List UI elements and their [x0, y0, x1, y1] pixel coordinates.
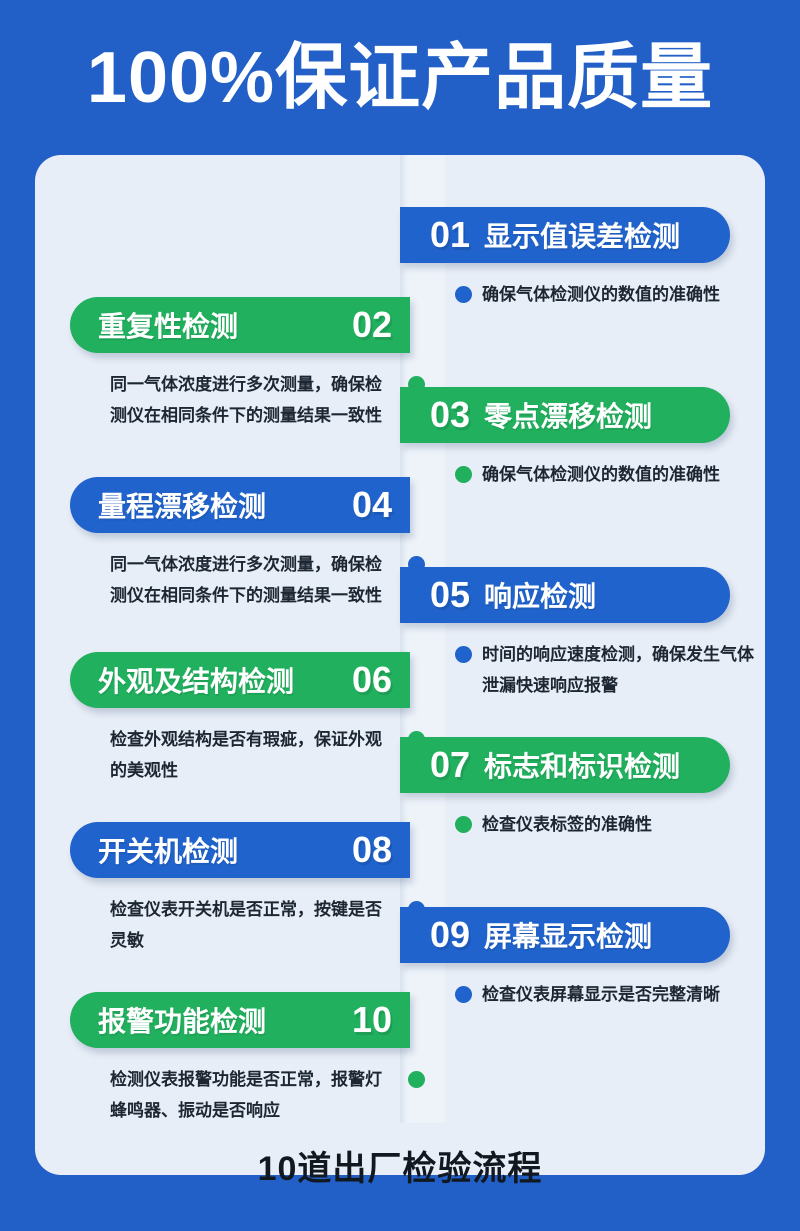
step-description: 检查外观结构是否有瑕疵，保证外观的美观性 — [110, 724, 425, 786]
step-description: 同一气体浓度进行多次测量，确保检测仪在相同条件下的测量结果一致性 — [110, 369, 425, 431]
step-pill[interactable]: 报警功能检测10 — [70, 992, 410, 1048]
page-title: 100%保证产品质量 — [87, 42, 713, 114]
step-number: 10 — [352, 1002, 392, 1038]
step-description: 检查仪表屏幕显示是否完整清晰 — [455, 979, 765, 1010]
step-description: 检测仪表报警功能是否正常，报警灯蜂鸣器、振动是否响应 — [110, 1064, 425, 1123]
page-header: 100%保证产品质量 — [0, 0, 800, 155]
footer-title: 10道出厂检验流程 — [258, 1141, 543, 1190]
step-number: 08 — [352, 832, 392, 868]
step-pill[interactable]: 外观及结构检测06 — [70, 652, 410, 708]
step-pill[interactable]: 01显示值误差检测 — [400, 207, 730, 263]
step-pill[interactable]: 03零点漂移检测 — [400, 387, 730, 443]
bullet-dot-icon — [455, 286, 472, 303]
step-description: 检查仪表标签的准确性 — [455, 809, 765, 840]
step-label: 外观及结构检测 — [98, 660, 294, 700]
step-pill[interactable]: 07标志和标识检测 — [400, 737, 730, 793]
step-label: 响应检测 — [484, 575, 596, 615]
step-pill[interactable]: 量程漂移检测04 — [70, 477, 410, 533]
step-number: 05 — [430, 577, 470, 613]
step-pill[interactable]: 重复性检测02 — [70, 297, 410, 353]
step-pill[interactable]: 开关机检测08 — [70, 822, 410, 878]
step-pill[interactable]: 05响应检测 — [400, 567, 730, 623]
bullet-dot-icon — [455, 986, 472, 1003]
step-number: 01 — [430, 217, 470, 253]
step-label: 重复性检测 — [98, 305, 238, 345]
step-description-text: 检查外观结构是否有瑕疵，保证外观的美观性 — [110, 724, 398, 786]
step-description: 检查仪表开关机是否正常，按键是否灵敏 — [110, 894, 425, 956]
step-number: 03 — [430, 397, 470, 433]
step-description-text: 同一气体浓度进行多次测量，确保检测仪在相同条件下的测量结果一致性 — [110, 369, 398, 431]
step-label: 量程漂移检测 — [98, 485, 266, 525]
step-number: 04 — [352, 487, 392, 523]
bullet-dot-icon — [455, 646, 472, 663]
page-footer: 10道出厂检验流程 — [0, 1123, 800, 1208]
bullet-dot-icon — [455, 466, 472, 483]
step-description-text: 确保气体检测仪的数值的准确性 — [482, 279, 765, 310]
step-label: 报警功能检测 — [98, 1000, 266, 1040]
step-description-text: 时间的响应速度检测，确保发生气体泄漏快速响应报警 — [482, 639, 765, 701]
step-description: 时间的响应速度检测，确保发生气体泄漏快速响应报警 — [455, 639, 765, 701]
step-description-text: 检查仪表标签的准确性 — [482, 809, 765, 840]
step-number: 02 — [352, 307, 392, 343]
step-number: 06 — [352, 662, 392, 698]
bullet-dot-icon — [408, 1071, 425, 1088]
step-description-text: 检查仪表屏幕显示是否完整清晰 — [482, 979, 765, 1010]
step-description: 确保气体检测仪的数值的准确性 — [455, 459, 765, 490]
step-label: 屏幕显示检测 — [484, 915, 652, 955]
step-description-text: 确保气体检测仪的数值的准确性 — [482, 459, 765, 490]
inspection-step-list: 01显示值误差检测确保气体检测仪的数值的准确性重复性检测02同一气体浓度进行多次… — [35, 155, 765, 1123]
step-description-text: 检查仪表开关机是否正常，按键是否灵敏 — [110, 894, 398, 956]
step-label: 显示值误差检测 — [484, 215, 680, 255]
step-description-text: 检测仪表报警功能是否正常，报警灯蜂鸣器、振动是否响应 — [110, 1064, 398, 1123]
step-number: 09 — [430, 917, 470, 953]
step-label: 开关机检测 — [98, 830, 238, 870]
step-number: 07 — [430, 747, 470, 783]
step-label: 标志和标识检测 — [484, 745, 680, 785]
inspection-steps-card: 01显示值误差检测确保气体检测仪的数值的准确性重复性检测02同一气体浓度进行多次… — [35, 155, 765, 1123]
step-description-text: 同一气体浓度进行多次测量，确保检测仪在相同条件下的测量结果一致性 — [110, 549, 398, 611]
step-description: 同一气体浓度进行多次测量，确保检测仪在相同条件下的测量结果一致性 — [110, 549, 425, 611]
step-label: 零点漂移检测 — [484, 395, 652, 435]
step-description: 确保气体检测仪的数值的准确性 — [455, 279, 765, 310]
bullet-dot-icon — [455, 816, 472, 833]
step-pill[interactable]: 09屏幕显示检测 — [400, 907, 730, 963]
